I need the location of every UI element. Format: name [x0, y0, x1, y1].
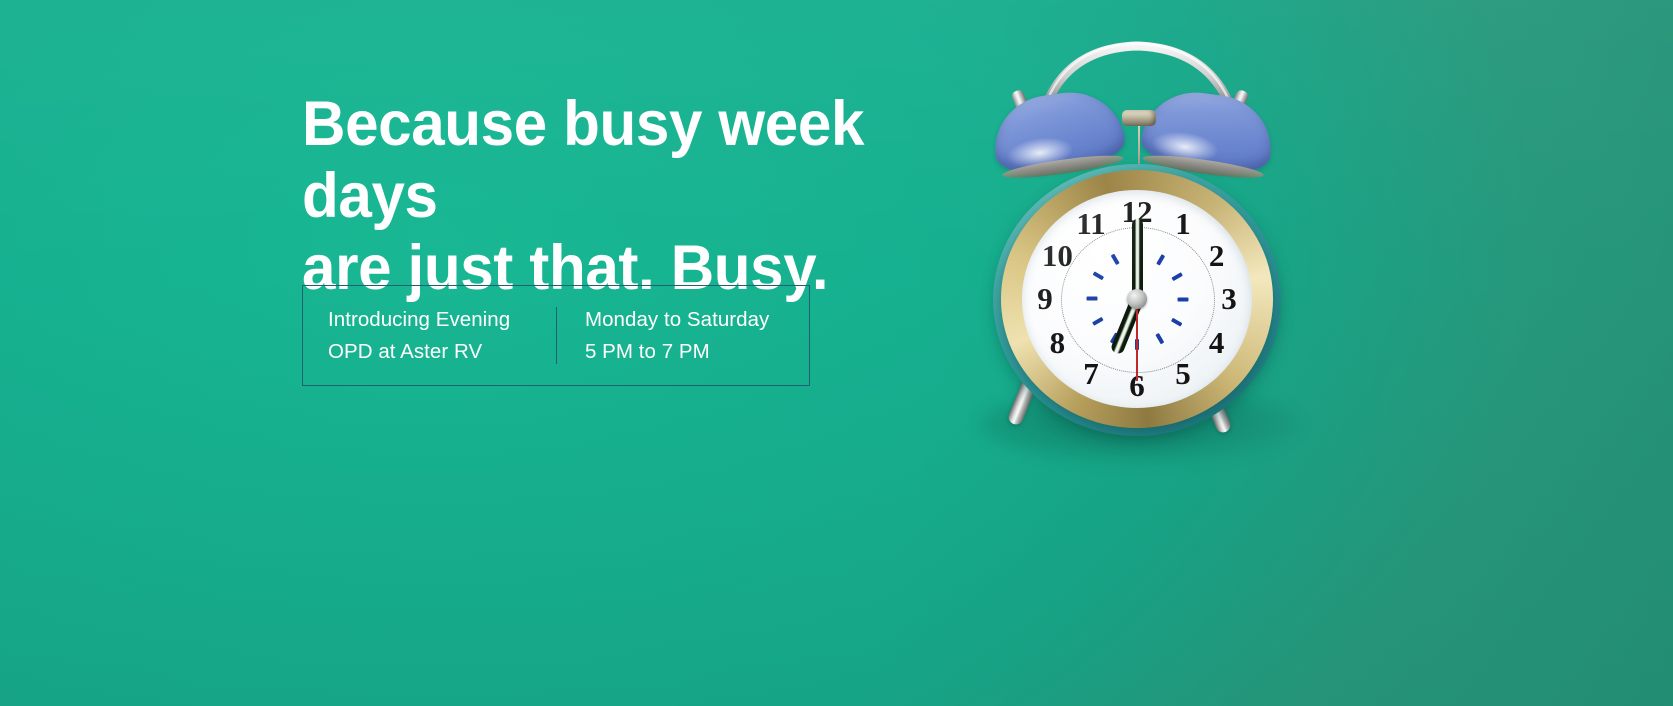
headline: Because busy week days are just that. Bu…: [302, 88, 971, 304]
alarm-clock-illustration: 121234567891011: [975, 14, 1305, 464]
clock-numeral-2: 2: [1197, 240, 1237, 271]
clock-numeral-8: 8: [1037, 327, 1077, 358]
promo-banner: Because busy week days are just that. Bu…: [0, 0, 1673, 706]
clock-numeral-5: 5: [1163, 358, 1203, 389]
clock-numeral-11: 11: [1071, 208, 1111, 239]
clock-minute-hand: [1132, 219, 1143, 299]
clock-numeral-9: 9: [1025, 283, 1065, 314]
clock-dial: 121234567891011: [1022, 190, 1252, 408]
clock-numeral-1: 1: [1163, 208, 1203, 239]
info-cell-timings: Monday to Saturday 5 PM to 7 PM: [557, 304, 809, 368]
clock-numeral-7: 7: [1071, 358, 1111, 389]
clock-hammer: [1122, 110, 1156, 126]
copy-block: Because busy week days are just that. Bu…: [302, 88, 1002, 304]
clock-numeral-10: 10: [1037, 240, 1077, 271]
info-box: Introducing Evening OPD at Aster RV Mond…: [302, 285, 810, 386]
clock-numeral-3: 3: [1209, 283, 1249, 314]
clock-numeral-4: 4: [1197, 327, 1237, 358]
info-cell-service: Introducing Evening OPD at Aster RV: [303, 304, 556, 368]
clock-center-cap: [1127, 289, 1147, 309]
